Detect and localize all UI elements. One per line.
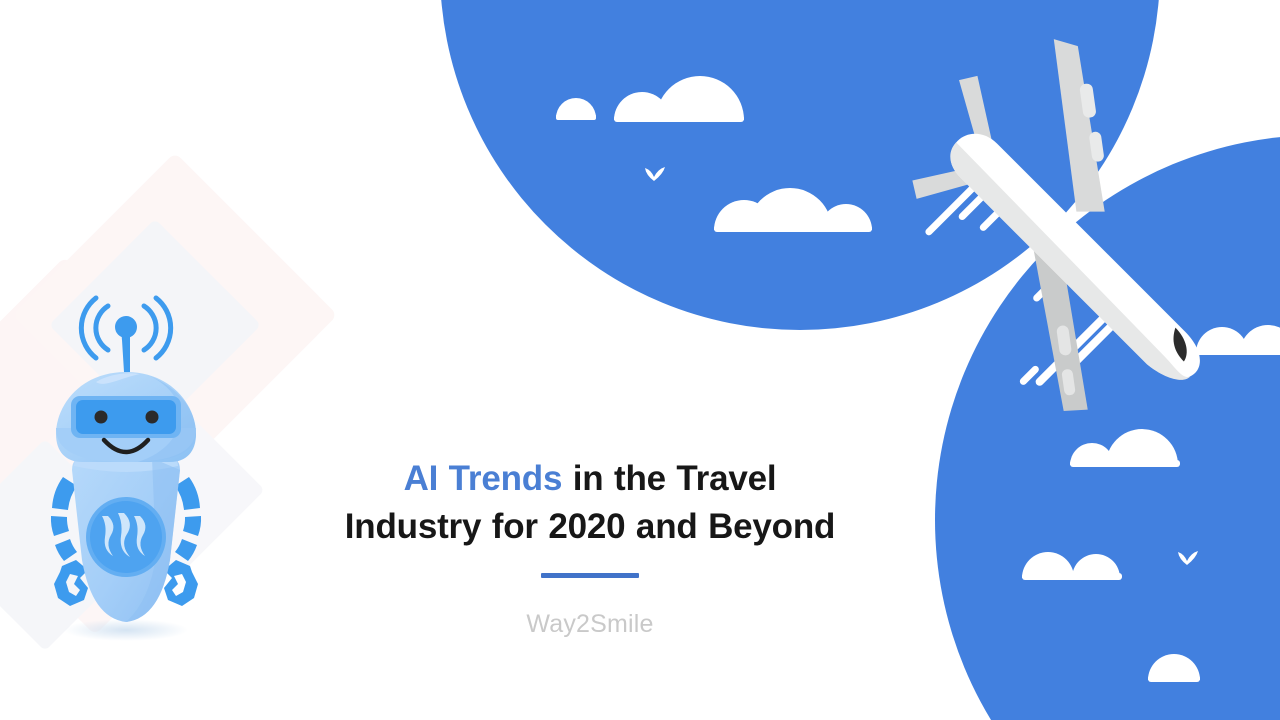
hero-banner: AI Trends in the TravelIndustry for 2020… — [0, 0, 1280, 720]
visor — [71, 396, 181, 438]
hero-text-block: AI Trends in the TravelIndustry for 2020… — [300, 455, 880, 639]
page-title-accent: AI Trends — [404, 459, 563, 498]
steem-logo-emblem — [86, 497, 166, 577]
mascot-ground-shadow — [64, 619, 188, 641]
title-underline-rule — [541, 573, 639, 578]
page-title-line1-rest: in the Travel — [562, 459, 776, 498]
left-pincer-hand — [54, 560, 88, 606]
antenna — [115, 316, 137, 372]
page-title-line2: Industry for 2020 and Beyond — [345, 507, 835, 546]
antenna-bulb — [115, 316, 137, 338]
brand-name: Way2Smile — [300, 610, 880, 639]
eye-right — [146, 411, 159, 424]
page-title: AI Trends in the TravelIndustry for 2020… — [300, 455, 880, 552]
right-pincer-hand — [164, 560, 198, 606]
eye-left — [95, 411, 108, 424]
